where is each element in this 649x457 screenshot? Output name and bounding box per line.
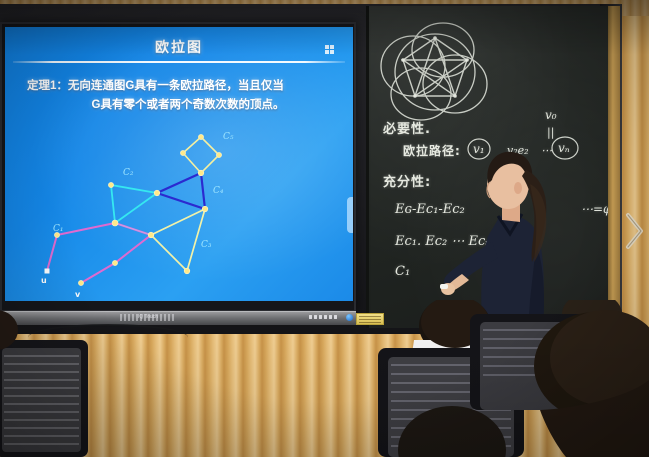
lecture-scene: 必要性. 欧拉路径: 充分性: Eɢ-Eс₁-Eс₂ Eс₁. Eс₂ ⋯ Eс… [0,0,649,457]
scene-shading [0,0,649,457]
